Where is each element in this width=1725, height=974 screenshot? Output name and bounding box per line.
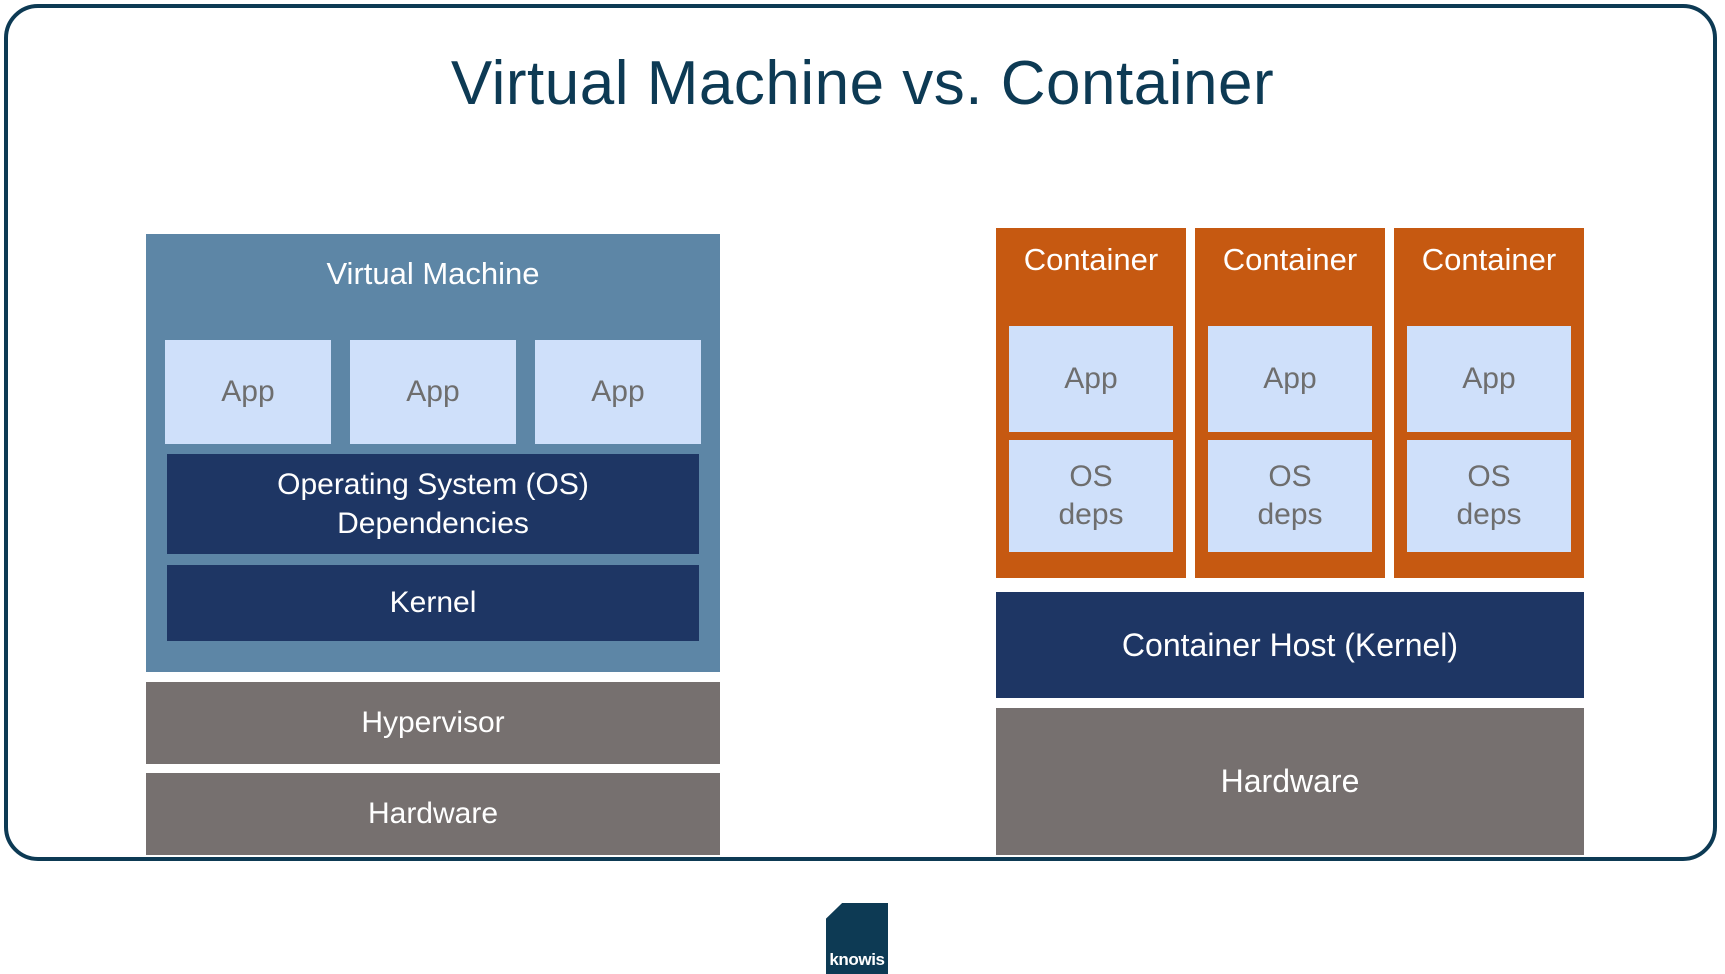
page-title: Virtual Machine vs. Container xyxy=(0,48,1725,119)
container-osdeps-box-1: OS deps xyxy=(1009,440,1173,552)
vm-kernel-label: Kernel xyxy=(390,586,477,620)
vm-app-label-2: App xyxy=(406,375,459,409)
container-title-2: Container xyxy=(1195,242,1385,278)
virtual-machine-panel-label: Virtual Machine xyxy=(146,256,720,292)
vm-app-label-1: App xyxy=(221,375,274,409)
vm-hardware-label: Hardware xyxy=(368,797,498,831)
container-osdeps-label-3-line2: deps xyxy=(1456,496,1521,534)
knowis-logo: knowis xyxy=(826,903,888,974)
hypervisor-bar: Hypervisor xyxy=(146,682,720,764)
vm-hardware-bar: Hardware xyxy=(146,773,720,855)
container-app-label-1: App xyxy=(1064,362,1117,396)
container-osdeps-label-1-line1: OS xyxy=(1069,458,1112,496)
vm-app-label-3: App xyxy=(591,375,644,409)
container-app-box-1: App xyxy=(1009,326,1173,432)
virtual-machine-app-row: App App App xyxy=(165,340,701,444)
container-osdeps-label-3-line1: OS xyxy=(1467,458,1510,496)
vm-app-box-1: App xyxy=(165,340,331,444)
container-box-1: Container App OS deps xyxy=(996,228,1186,578)
vm-app-box-2: App xyxy=(350,340,516,444)
container-title-3: Container xyxy=(1394,242,1584,278)
container-hardware-label: Hardware xyxy=(1221,763,1360,800)
container-host-bar: Container Host (Kernel) xyxy=(996,592,1584,698)
container-osdeps-label-2-line1: OS xyxy=(1268,458,1311,496)
container-osdeps-box-3: OS deps xyxy=(1407,440,1571,552)
container-osdeps-label-1-line2: deps xyxy=(1058,496,1123,534)
container-title-1: Container xyxy=(996,242,1186,278)
hypervisor-label: Hypervisor xyxy=(361,706,504,740)
container-app-label-2: App xyxy=(1263,362,1316,396)
vm-os-label-line2: Dependencies xyxy=(337,504,529,543)
vm-os-label-line1: Operating System (OS) xyxy=(277,465,589,504)
virtual-machine-panel: Virtual Machine App App App Operating Sy… xyxy=(146,234,720,672)
container-row: Container App OS deps Container App OS d… xyxy=(996,228,1584,578)
vm-app-box-3: App xyxy=(535,340,701,444)
vm-operating-system-box: Operating System (OS) Dependencies xyxy=(167,454,699,554)
container-box-2: Container App OS deps xyxy=(1195,228,1385,578)
container-app-label-3: App xyxy=(1462,362,1515,396)
slide-canvas: Virtual Machine vs. Container Virtual Ma… xyxy=(0,0,1725,974)
container-osdeps-box-2: OS deps xyxy=(1208,440,1372,552)
container-hardware-bar: Hardware xyxy=(996,708,1584,855)
container-osdeps-label-2-line2: deps xyxy=(1257,496,1322,534)
vm-kernel-box: Kernel xyxy=(167,565,699,641)
container-box-3: Container App OS deps xyxy=(1394,228,1584,578)
container-app-box-3: App xyxy=(1407,326,1571,432)
knowis-logo-text: knowis xyxy=(826,950,888,970)
container-app-box-2: App xyxy=(1208,326,1372,432)
container-host-label: Container Host (Kernel) xyxy=(1122,627,1458,664)
